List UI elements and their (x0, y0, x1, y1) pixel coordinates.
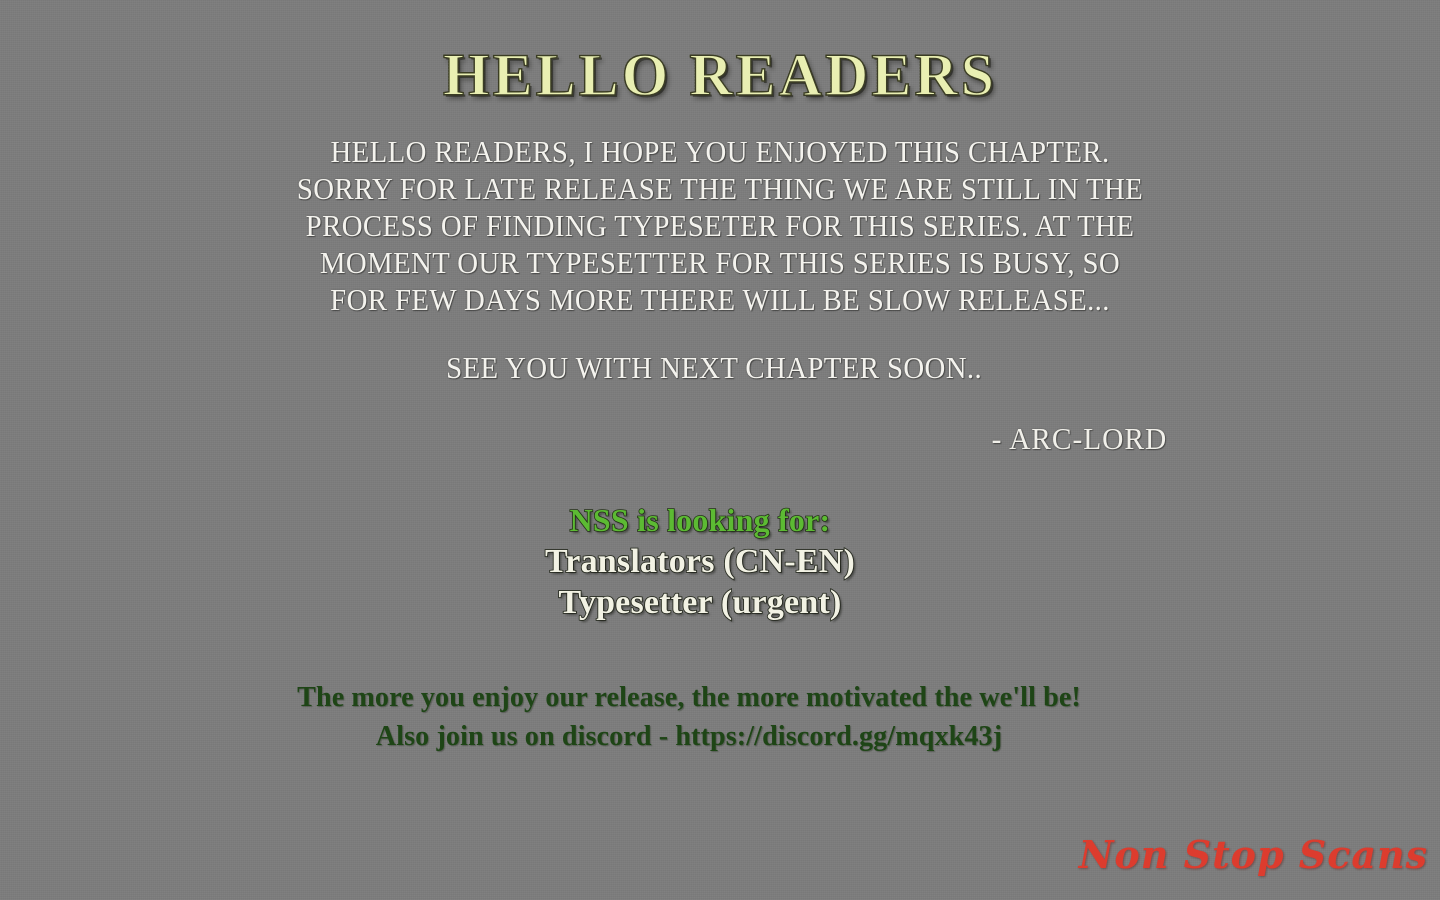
signature-text: - ARC-LORD (992, 421, 1168, 457)
recruitment-notice: NSS is looking for: Translators (CN-EN) … (0, 500, 1400, 623)
recruitment-role-translators: Translators (CN-EN) (0, 541, 1400, 582)
discord-invite-notice: The more you enjoy our release, the more… (0, 678, 1378, 756)
signature: - ARC-LORD (0, 421, 1172, 457)
credits-page: HELLO READERS HELLO READERS, I HOPE YOU … (0, 0, 1440, 900)
see-you-message: SEE YOU WITH NEXT CHAPTER SOON.. (0, 349, 1440, 386)
recruitment-heading: NSS is looking for: (0, 500, 1400, 541)
message-line: FOR FEW DAYS MORE THERE WILL BE SLOW REL… (50, 281, 1389, 318)
scanlation-group-watermark: Non Stop Scans (1079, 832, 1428, 878)
recruitment-role-typesetter: Typesetter (urgent) (0, 582, 1400, 623)
page-title-text: HELLO READERS (439, 44, 1001, 106)
message-paragraph: HELLO READERS, I HOPE YOU ENJOYED THIS C… (0, 133, 1440, 318)
message-line: MOMENT OUR TYPESETTER FOR THIS SERIES IS… (50, 244, 1389, 281)
see-you-text: SEE YOU WITH NEXT CHAPTER SOON.. (446, 349, 982, 386)
message-line: PROCESS OF FINDING TYPESETER FOR THIS SE… (50, 207, 1389, 244)
page-title: HELLO READERS (0, 44, 1440, 106)
motivation-text: The more you enjoy our release, the more… (21, 678, 1358, 717)
message-line: SORRY FOR LATE RELEASE THE THING WE ARE … (50, 170, 1389, 207)
discord-invite-link[interactable]: Also join us on discord - https://discor… (21, 717, 1358, 756)
message-line: HELLO READERS, I HOPE YOU ENJOYED THIS C… (50, 133, 1389, 170)
